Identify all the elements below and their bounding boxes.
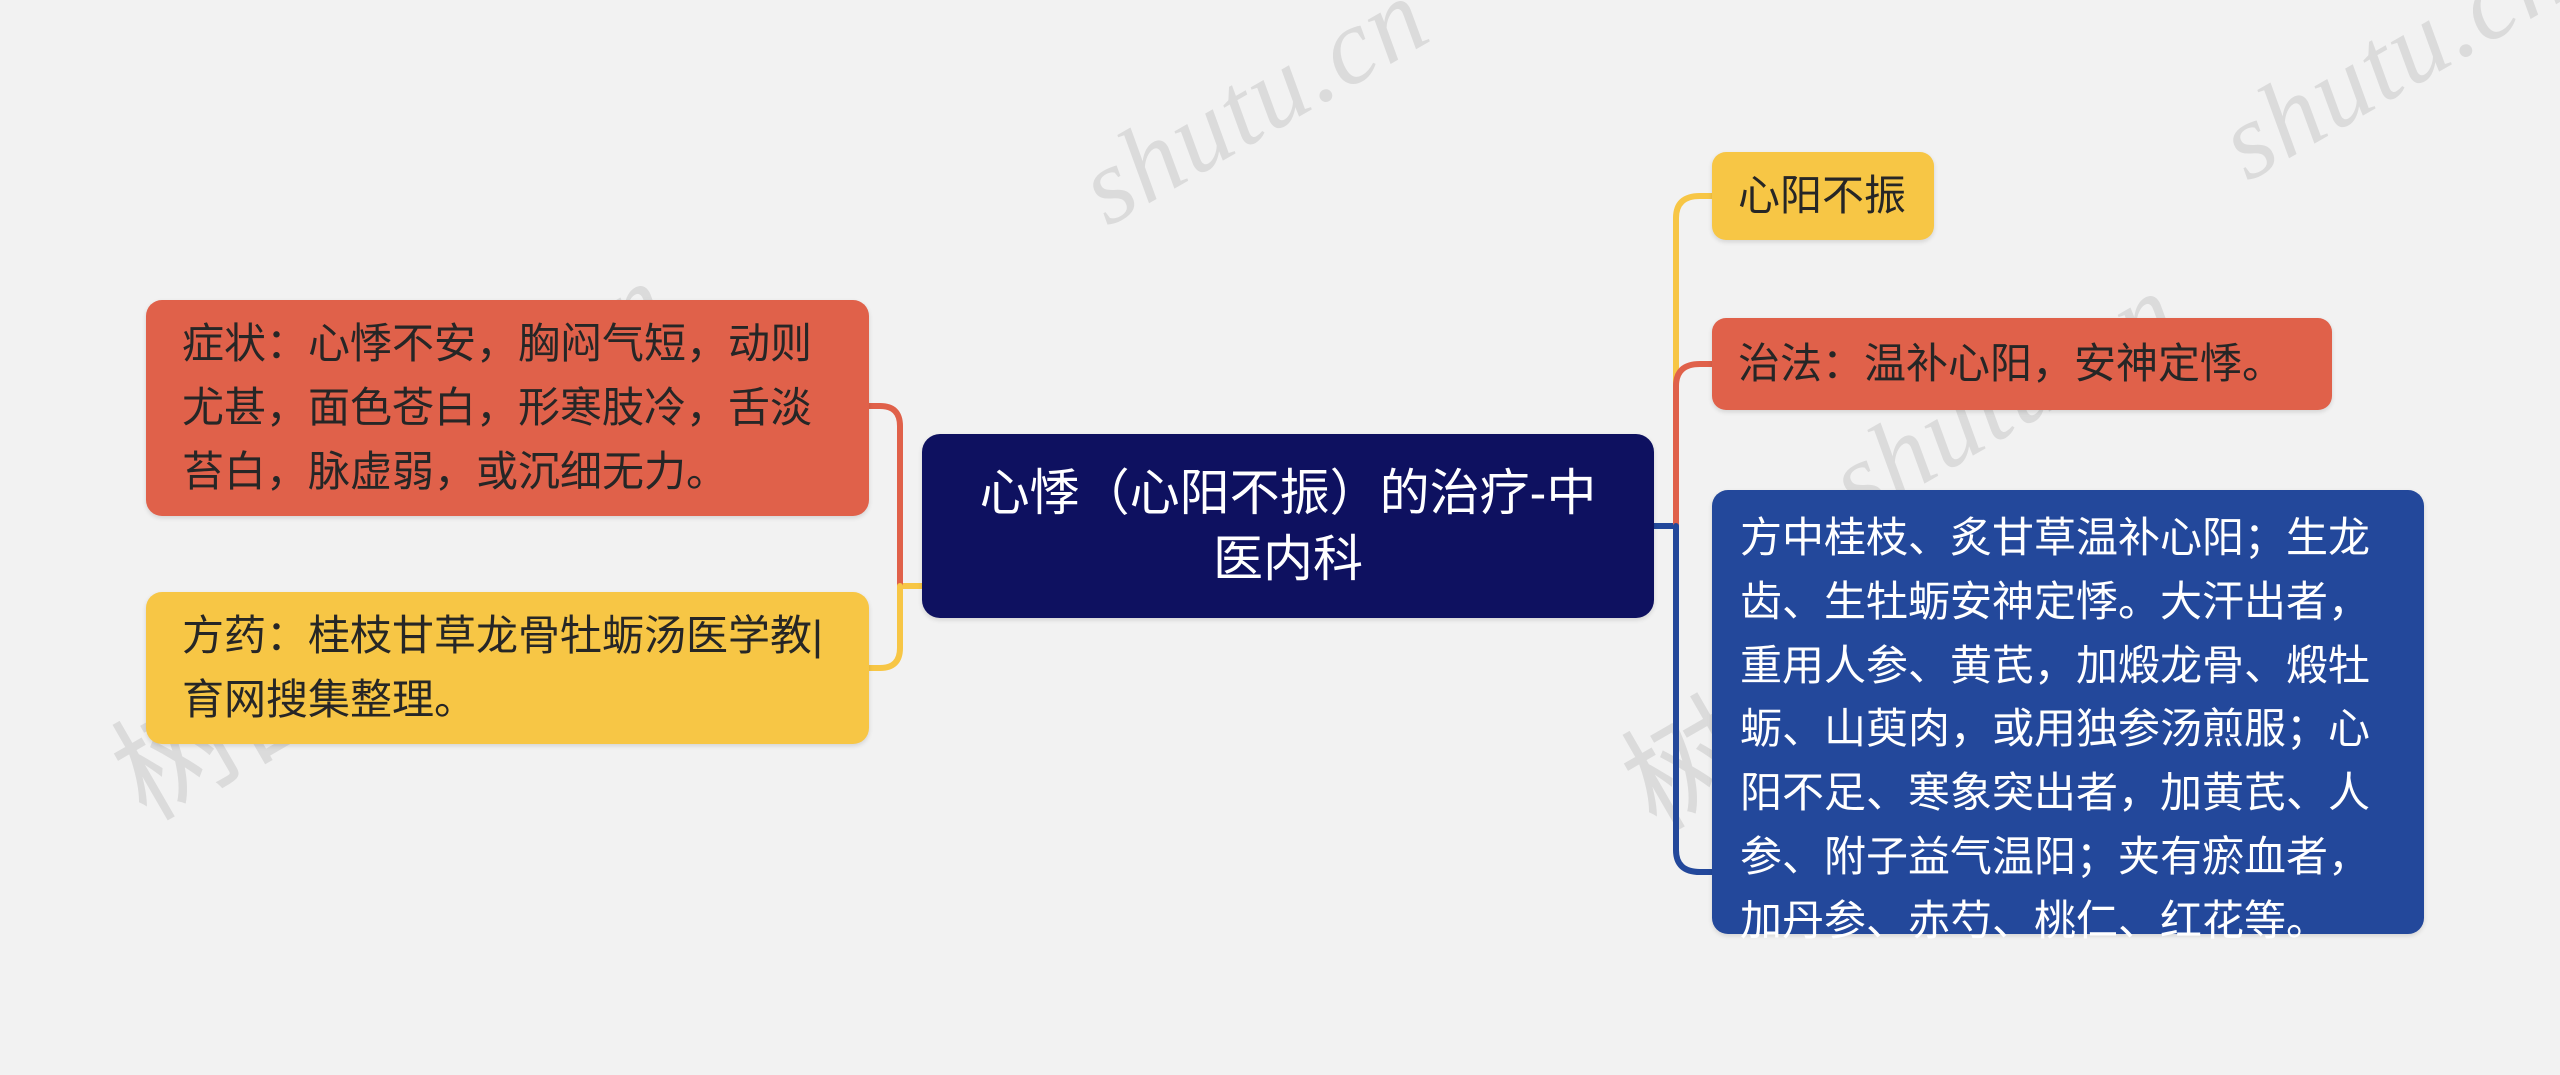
- node-prescription-label: 方药：桂枝甘草龙骨牡蛎汤医学教|育网搜集整理。: [182, 604, 833, 732]
- node-root-label: 心悸（心阳不振）的治疗-中医内科: [956, 460, 1620, 592]
- node-pattern-label: 心阳不振: [1738, 167, 1908, 226]
- node-symptoms-label: 症状：心悸不安，胸闷气短，动则尤甚，面色苍白，形寒肢冷，舌淡苔白，脉虚弱，或沉细…: [182, 312, 833, 503]
- mindmap-canvas: 症状：心悸不安，胸闷气短，动则尤甚，面色苍白，形寒肢冷，舌淡苔白，脉虚弱，或沉细…: [0, 0, 2560, 1075]
- node-therapy-label: 治法：温补心阳，安神定悸。: [1738, 335, 2306, 394]
- node-formula-label: 方中桂枝、炙甘草温补心阳；生龙齿、生牡蛎安神定悸。大汗出者，重用人参、黄芪，加煅…: [1740, 506, 2396, 953]
- node-formula-detail[interactable]: 方中桂枝、炙甘草温补心阳；生龙齿、生牡蛎安神定悸。大汗出者，重用人参、黄芪，加煅…: [1712, 490, 2424, 934]
- node-prescription[interactable]: 方药：桂枝甘草龙骨牡蛎汤医学教|育网搜集整理。: [146, 592, 869, 744]
- node-therapy[interactable]: 治法：温补心阳，安神定悸。: [1712, 318, 2332, 410]
- node-root-topic[interactable]: 心悸（心阳不振）的治疗-中医内科: [922, 434, 1654, 618]
- node-symptoms[interactable]: 症状：心悸不安，胸闷气短，动则尤甚，面色苍白，形寒肢冷，舌淡苔白，脉虚弱，或沉细…: [146, 300, 869, 516]
- node-pattern[interactable]: 心阳不振: [1712, 152, 1934, 240]
